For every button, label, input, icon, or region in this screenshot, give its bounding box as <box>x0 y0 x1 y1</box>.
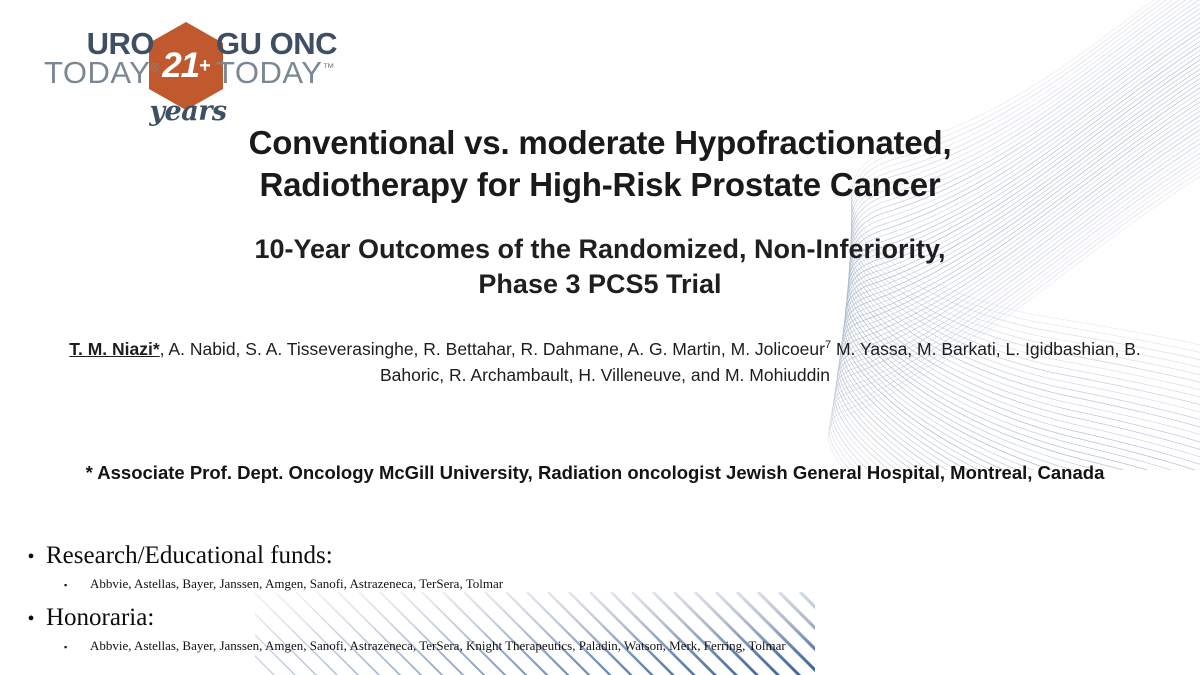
presentation-slide: 21+ years URO TODAY® GU ONC TODAY™ Conve… <box>0 0 1200 675</box>
page-title: Conventional vs. moderate Hypofractionat… <box>100 122 1100 206</box>
logo-today-word-right: TODAY <box>216 55 322 90</box>
author-list: T. M. Niazi*, A. Nabid, S. A. Tisseveras… <box>60 336 1150 389</box>
logo-uro-today: URO TODAY® <box>44 30 154 87</box>
disclosure-group-honoraria: • Honoraria: ▪ Abbvie, Astellas, Bayer, … <box>16 604 1116 654</box>
disclosure-items-text-honoraria: Abbvie, Astellas, Bayer, Janssen, Amgen,… <box>90 638 786 654</box>
author-line-2: Bahoric, R. Archambault, H. Villeneuve, … <box>60 362 1150 388</box>
title-line-1: Conventional vs. moderate Hypofractionat… <box>100 122 1100 164</box>
subtitle-line-1: 10-Year Outcomes of the Randomized, Non-… <box>100 232 1100 267</box>
disclosure-heading-honoraria: • Honoraria: <box>16 604 1116 632</box>
disclosure-items-research: ▪ Abbvie, Astellas, Bayer, Janssen, Amge… <box>64 576 1116 592</box>
disclosure-heading-text-research: Research/Educational funds: <box>46 542 333 570</box>
bullet-icon: • <box>16 609 46 629</box>
logo-today-text-left: TODAY® <box>44 59 154 88</box>
subtitle-line-2: Phase 3 PCS5 Trial <box>100 267 1100 302</box>
author-line-1: T. M. Niazi*, A. Nabid, S. A. Tisseveras… <box>60 336 1150 362</box>
logo-today-word-left: TODAY <box>44 55 150 90</box>
bullet-icon: • <box>16 547 46 567</box>
badge-plus-sign: + <box>199 55 210 78</box>
disclosure-items-honoraria: ▪ Abbvie, Astellas, Bayer, Janssen, Amge… <box>64 638 1116 654</box>
affiliation-note: * Associate Prof. Dept. Oncology McGill … <box>30 462 1160 484</box>
presenting-author-name: T. M. Niazi* <box>69 339 159 359</box>
sub-bullet-icon: ▪ <box>64 581 90 590</box>
badge-years-label: years <box>140 96 236 127</box>
title-line-2: Radiotherapy for High-Risk Prostate Canc… <box>100 164 1100 206</box>
logo-today-text-right: TODAY™ <box>216 59 356 88</box>
page-subtitle: 10-Year Outcomes of the Randomized, Non-… <box>100 232 1100 302</box>
author-line-1-rest: , A. Nabid, S. A. Tisseverasinghe, R. Be… <box>160 339 825 359</box>
registered-trademark-icon: ® <box>150 60 159 74</box>
disclosure-heading-text-honoraria: Honoraria: <box>46 604 154 632</box>
uro-today-gu-onc-today-logo: 21+ years URO TODAY® GU ONC TODAY™ <box>44 16 344 124</box>
author-line-1-tail: M. Yassa, M. Barkati, L. Igidbashian, B. <box>831 339 1141 359</box>
trademark-icon: ™ <box>322 60 335 74</box>
disclosure-group-research: • Research/Educational funds: ▪ Abbvie, … <box>16 542 1116 592</box>
disclosures-list: • Research/Educational funds: ▪ Abbvie, … <box>16 542 1116 666</box>
sub-bullet-icon: ▪ <box>64 643 90 652</box>
disclosure-heading-research: • Research/Educational funds: <box>16 542 1116 570</box>
disclosure-items-text-research: Abbvie, Astellas, Bayer, Janssen, Amgen,… <box>90 576 503 592</box>
logo-gu-onc-today: GU ONC TODAY™ <box>216 30 356 87</box>
badge-number-text: 21 <box>162 46 199 86</box>
slide-title-block: Conventional vs. moderate Hypofractionat… <box>100 122 1100 302</box>
